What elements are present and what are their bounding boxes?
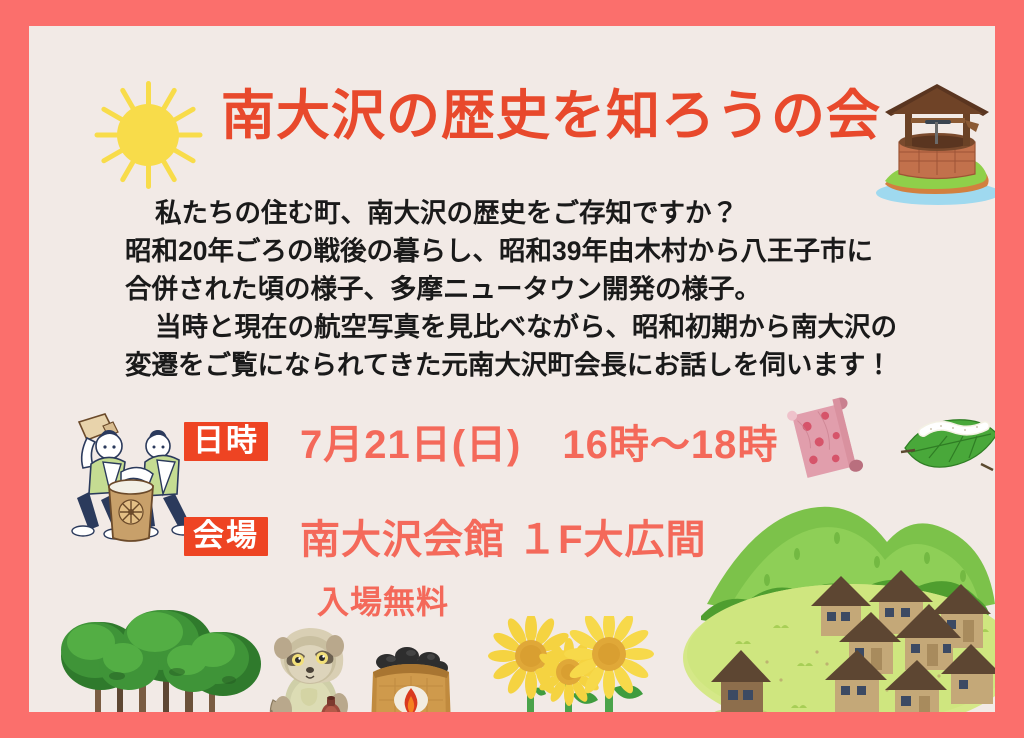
venue-value: 南大沢会館 １F大広間 xyxy=(300,507,707,565)
datetime-row: 日時 7月21日(日) 16時〜18時 xyxy=(184,412,778,470)
body-line-1: 私たちの住む町、南大沢の歴史をご存知ですか？ xyxy=(125,194,955,232)
datetime-label-badge: 日時 xyxy=(184,422,268,461)
silk-fabric-roll-icon xyxy=(781,394,873,486)
body-line-4: 当時と現在の航空写真を見比べながら、昭和初期から南大沢の xyxy=(125,308,955,346)
venue-label-badge: 会場 xyxy=(184,517,268,556)
poster-panel: 南大沢の歴史を知ろうの会 私たちの住む町、南大沢の歴史をご存知ですか？ 昭和20… xyxy=(29,26,995,712)
body-line-3: 合併された頃の様子、多摩ニュータウン開発の様子。 xyxy=(125,270,955,308)
thatched-village-hills-icon xyxy=(677,492,995,712)
event-poster: 南大沢の歴史を知ろうの会 私たちの住む町、南大沢の歴史をご存知ですか？ 昭和20… xyxy=(0,0,1024,738)
sunflowers-icon xyxy=(481,616,657,712)
silkworms-on-mulberry-leaf-icon xyxy=(895,408,995,478)
poster-body-text: 私たちの住む町、南大沢の歴史をご存知ですか？ 昭和20年ごろの戦後の暮らし、昭和… xyxy=(125,194,955,384)
tree-grove-icon xyxy=(57,588,269,712)
admission-note: 入場無料 xyxy=(317,577,449,623)
charcoal-sack-icon xyxy=(365,638,457,712)
body-line-5: 変遷をご覧になられてきた元南大沢町会長にお話しを伺います！ xyxy=(125,346,955,384)
venue-row: 会場 南大沢会館 １F大広間 xyxy=(184,507,707,565)
tanuki-icon xyxy=(269,624,351,712)
water-well-icon xyxy=(865,78,995,206)
datetime-value: 7月21日(日) 16時〜18時 xyxy=(300,412,778,470)
body-line-2: 昭和20年ごろの戦後の暮らし、昭和39年由木村から八王子市に xyxy=(125,232,955,270)
sun-icon xyxy=(84,74,214,196)
poster-title: 南大沢の歴史を知ろうの会 xyxy=(221,88,861,145)
